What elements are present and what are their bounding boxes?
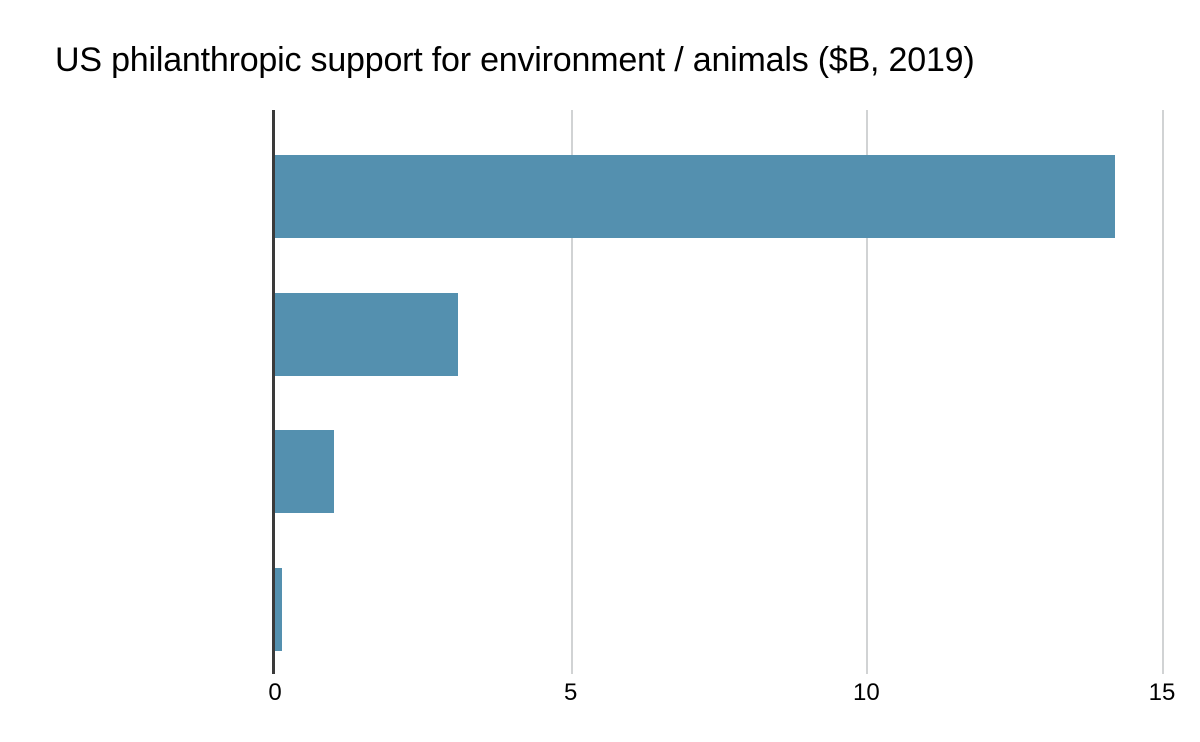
bar-chart: US philanthropic support for environment… (0, 0, 1200, 742)
bar[interactable] (275, 155, 1115, 238)
bar-row: All farm animal & alternative protein ad… (275, 523, 1162, 661)
bar[interactable] (275, 293, 458, 376)
x-tick-mark-15 (1162, 660, 1164, 674)
x-tick-label: 5 (521, 678, 621, 708)
chart-title: US philanthropic support for environment… (55, 38, 1155, 82)
x-tick-label: 0 (225, 678, 325, 708)
bar-row: Three largest US conservation groups (275, 385, 1162, 523)
gridline-15 (1162, 110, 1164, 660)
x-tick-label: 15 (1112, 678, 1200, 708)
x-tick-mark-0 (272, 660, 275, 674)
bar[interactable] (275, 430, 334, 513)
plot-area: All environment / animals US animal shel… (275, 110, 1162, 660)
x-tick-label: 10 (816, 678, 916, 708)
bar[interactable] (275, 568, 282, 651)
bar-row: All environment / animals (275, 110, 1162, 248)
x-tick-mark-10 (866, 660, 868, 674)
bar-row: US animal shelters (275, 248, 1162, 386)
x-tick-mark-5 (571, 660, 573, 674)
